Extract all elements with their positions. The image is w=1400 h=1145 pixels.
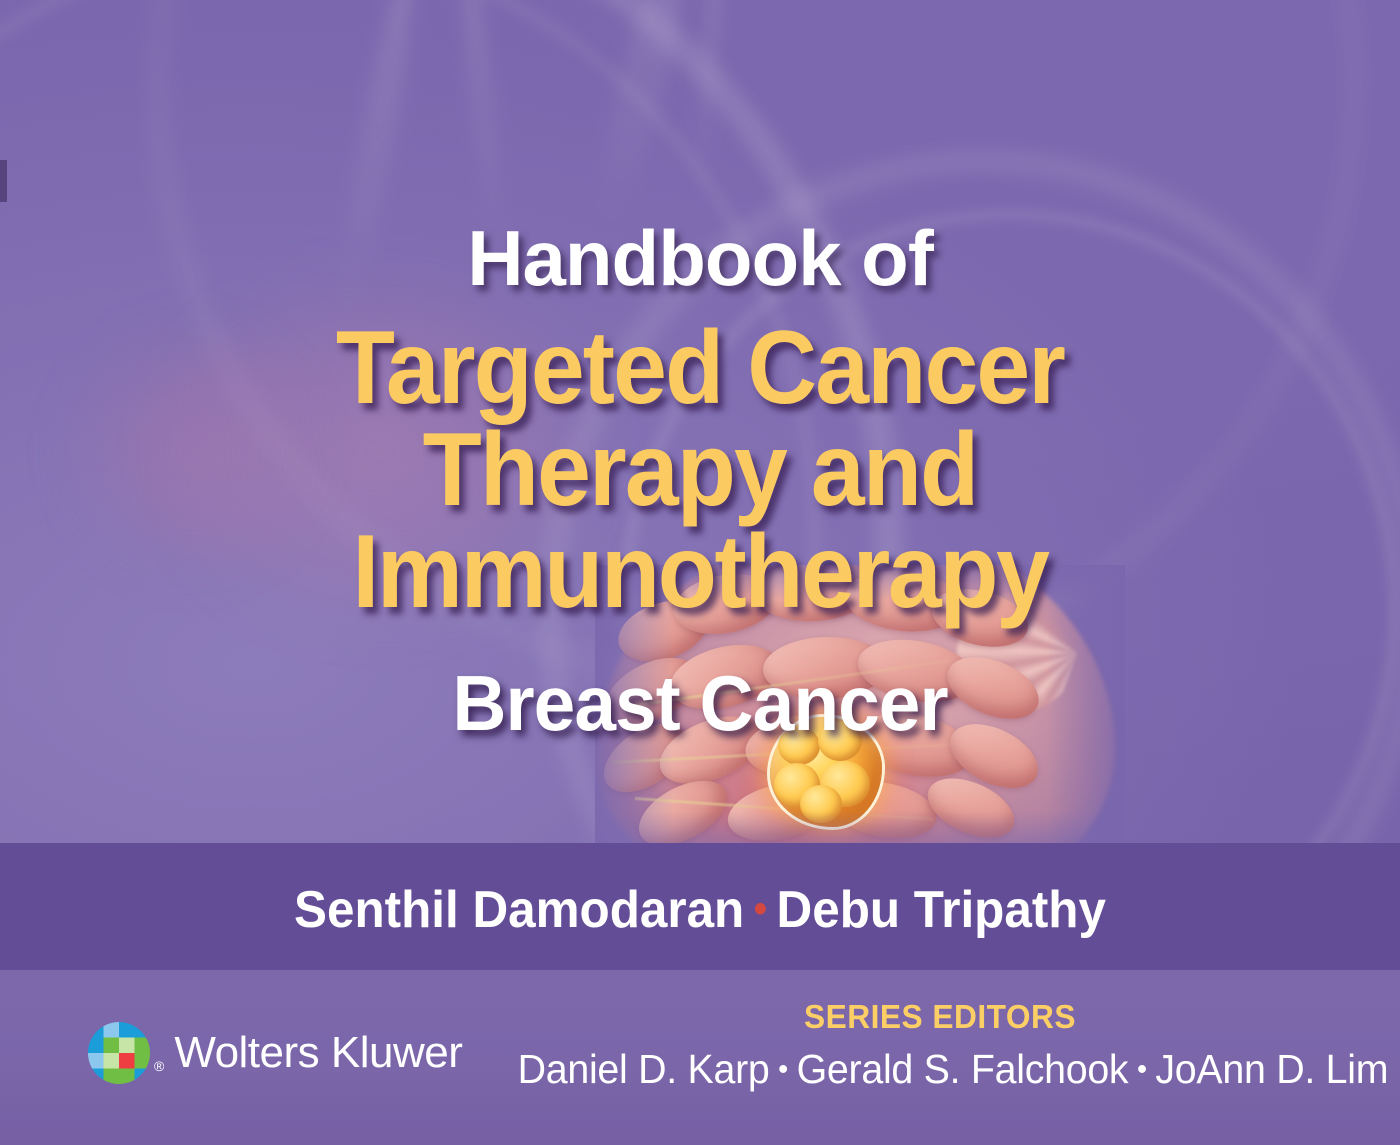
series-editor-separator-bullet: • (1128, 1053, 1155, 1086)
title-line-1: Targeted Cancer (336, 310, 1064, 426)
registered-trademark-icon: ® (154, 1058, 164, 1074)
title-line-3: Immunotherapy (49, 522, 1351, 624)
series-editors-heading: SERIES EDITORS (518, 998, 1363, 1036)
cover-kicker: Handbook of (0, 213, 1400, 304)
series-editor-1: Daniel D. Karp (518, 1046, 770, 1092)
book-cover: Handbook of Targeted Cancer Therapy and … (0, 0, 1400, 1145)
publisher-name: Wolters Kluwer (174, 1028, 462, 1078)
wolters-kluwer-globe-icon (88, 1022, 150, 1084)
author-secondary: Debu Tripathy (777, 881, 1106, 939)
author-separator-bullet: • (744, 887, 776, 931)
title-line-2: Therapy and (49, 420, 1351, 522)
page-title: Targeted Cancer Therapy and Immunotherap… (49, 318, 1351, 624)
series-editor-2: Gerald S. Falchook (797, 1046, 1129, 1092)
left-edge-mark (0, 160, 7, 202)
authors-line: Senthil Damodaran•Debu Tripathy (35, 880, 1365, 940)
cover-subtitle: Breast Cancer (28, 658, 1372, 749)
series-editor-3: JoAnn D. Lim (1155, 1046, 1388, 1092)
series-editor-separator-bullet: • (770, 1053, 797, 1086)
publisher-logo: ® Wolters Kluwer (88, 1022, 462, 1084)
tumor-lobe (800, 785, 842, 823)
author-primary: Senthil Damodaran (294, 881, 744, 939)
series-editors-names: Daniel D. Karp•Gerald S. Falchook•JoAnn … (518, 1046, 1363, 1093)
series-editors-block: SERIES EDITORS Daniel D. Karp•Gerald S. … (500, 998, 1380, 1093)
